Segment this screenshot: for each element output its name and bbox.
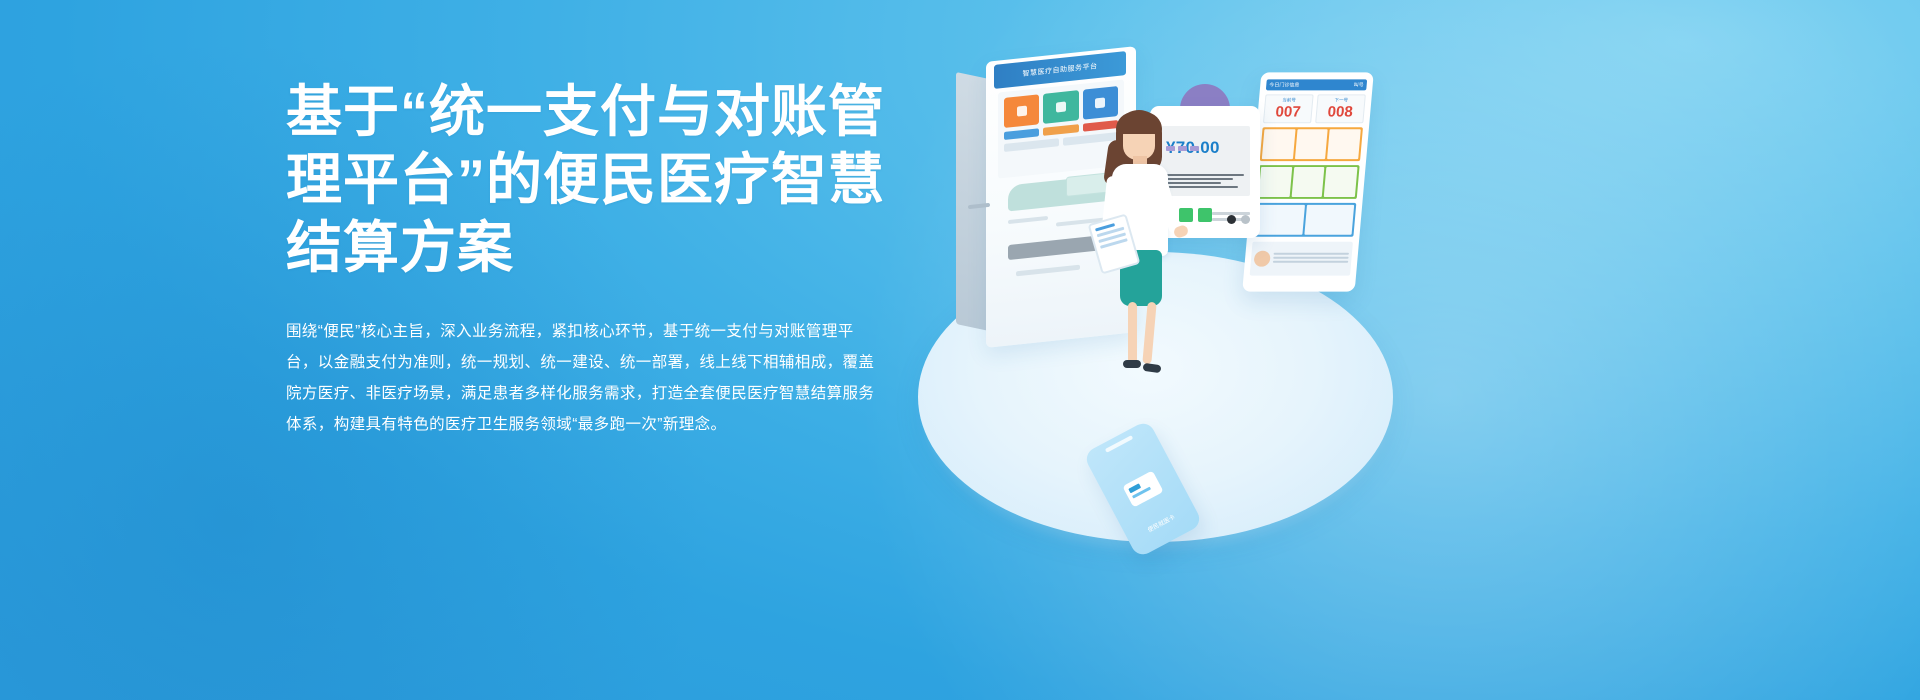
kiosk-tile-registration <box>1004 94 1039 128</box>
queue-band-green <box>1256 165 1359 199</box>
doctor-info-lines <box>1273 253 1349 265</box>
left-leg <box>1128 302 1137 364</box>
queue-band-orange <box>1260 127 1363 161</box>
queue-next: 下一号 008 <box>1315 94 1366 123</box>
queue-cell <box>1324 167 1357 197</box>
page-title: 基于“统一支付与对账管 理平台”的便民医疗智慧 结算方案 <box>286 78 906 282</box>
key <box>1198 208 1212 222</box>
search-icon <box>1095 97 1105 108</box>
queue-cell <box>1255 205 1305 235</box>
wallet-icon <box>1056 101 1066 112</box>
health-card-icon <box>1122 470 1163 507</box>
doctor-info-card <box>1250 242 1353 276</box>
queue-cell <box>1262 129 1295 159</box>
paragraph-line-1: 围绕“便民”核心主旨，深入业务流程，紧扣核心环节，基于统一支付与对账管理平 <box>286 316 901 347</box>
queue-cell <box>1291 167 1324 197</box>
info-line <box>1273 257 1348 259</box>
kiosk-chip <box>1004 138 1059 152</box>
description-paragraph: 围绕“便民”核心主旨，深入业务流程，紧扣核心环节，基于统一支付与对账管理平 台，… <box>286 316 901 440</box>
copy-block: 基于“统一支付与对账管 理平台”的便民医疗智慧 结算方案 围绕“便民”核心主旨，… <box>286 78 906 440</box>
queue-current-number: 007 <box>1264 103 1312 120</box>
headline-line-3: 结算方案 <box>286 214 906 282</box>
paragraph-line-4: 体系，构建具有特色的医疗卫生服务领域“最多跑一次”新理念。 <box>286 409 901 440</box>
queue-cell <box>1304 205 1354 235</box>
info-line <box>1273 261 1348 263</box>
queue-display-tablet: 今日门诊信息 叫号 当前号 007 下一号 008 <box>1242 72 1374 291</box>
plus-icon <box>1017 106 1027 117</box>
headline-line-1: 基于“统一支付与对账管 <box>286 78 906 146</box>
queue-band-blue <box>1253 203 1356 237</box>
terminal-dot-keys <box>1227 215 1250 224</box>
right-shoe <box>1143 363 1162 373</box>
kiosk-tile-payment <box>1043 90 1078 124</box>
tablet-header-right: 叫号 <box>1353 81 1364 88</box>
kiosk-chip <box>1004 128 1039 140</box>
tablet-header: 今日门诊信息 叫号 <box>1266 79 1367 90</box>
queue-next-number: 008 <box>1316 103 1364 120</box>
left-shoe <box>1123 360 1141 368</box>
paragraph-line-3: 院方医疗、非医疗场景，满足患者多样化服务需求，打造全套便民医疗智慧结算服务 <box>286 378 901 409</box>
dot-key <box>1241 215 1250 224</box>
hero-banner: 基于“统一支付与对账管 理平台”的便民医疗智慧 结算方案 围绕“便民”核心主旨，… <box>0 0 1920 700</box>
paragraph-line-2: 台，以金融支付为准则，统一规划、统一建设、统一部署，线上线下相辅相成，覆盖 <box>286 347 901 378</box>
hero-illustration: 智慧医疗自助服务平台 <box>900 20 1460 580</box>
dot-key <box>1227 215 1236 224</box>
info-line <box>1274 253 1349 255</box>
tablet-header-left: 今日门诊信息 <box>1269 81 1300 88</box>
kiosk-header-label: 智慧医疗自助服务平台 <box>1023 61 1098 79</box>
kiosk-chip <box>1043 124 1078 136</box>
doctor-avatar <box>1253 251 1270 267</box>
headline-line-2: 理平台”的便民医疗智慧 <box>286 146 906 214</box>
queue-cell <box>1259 167 1292 197</box>
queue-cell <box>1295 129 1328 159</box>
queue-current: 当前号 007 <box>1263 94 1314 123</box>
queue-number-row: 当前号 007 下一号 008 <box>1263 94 1366 123</box>
hair-front <box>1116 112 1162 134</box>
queue-cell <box>1327 129 1360 159</box>
nurse-character <box>1090 110 1200 380</box>
right-leg <box>1142 302 1156 365</box>
